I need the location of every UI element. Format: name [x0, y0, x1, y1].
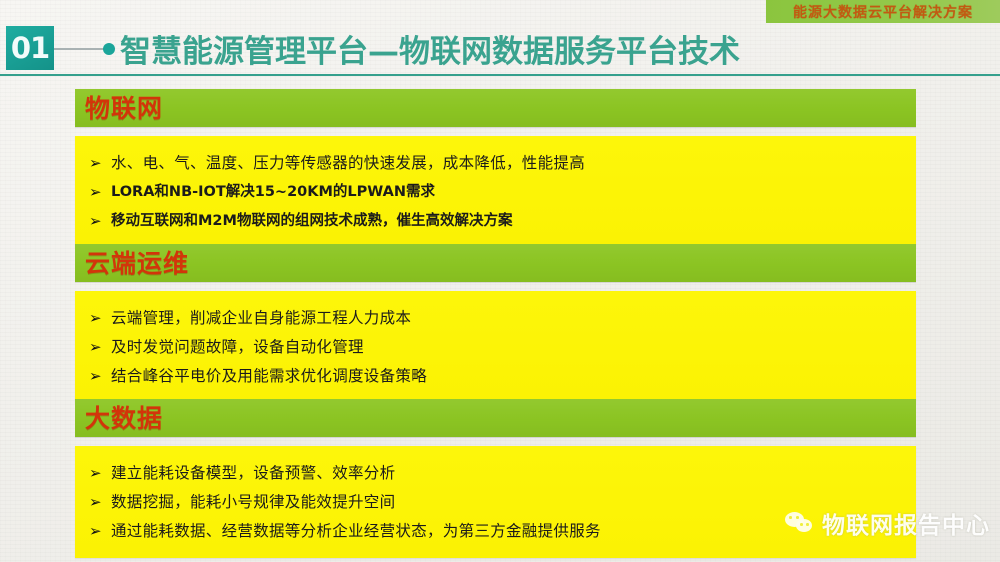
corner-badge-label: 能源大数据云平台解决方案	[793, 2, 973, 22]
list-item-text: 移动互联网和M2M物联网的组网技术成熟，催生高效解决方案	[111, 207, 512, 236]
list-item-text: 结合峰谷平电价及用能需求优化调度设备策略	[111, 362, 427, 391]
list-item-text: 建立能耗设备模型，设备预警、效率分析	[111, 459, 395, 488]
arrow-bullet-icon: ➢	[89, 304, 111, 333]
section-heading-label: 大数据	[85, 406, 163, 431]
section-body: ➢ 云端管理，削减企业自身能源工程人力成本 ➢ 及时发觉问题故障，设备自动化管理…	[75, 291, 916, 403]
list-item: ➢ 数据挖掘，能耗小号规律及能效提升空间	[75, 488, 916, 517]
section-heading-label: 物联网	[85, 96, 163, 121]
list-item-text: 云端管理，削减企业自身能源工程人力成本	[111, 304, 411, 333]
list-item: ➢ 水、电、气、温度、压力等传感器的快速发展，成本降低，性能提高	[75, 149, 916, 178]
arrow-bullet-icon: ➢	[89, 207, 111, 236]
header-connector-line	[54, 48, 106, 50]
arrow-bullet-icon: ➢	[89, 488, 111, 517]
content-section-iot: 物联网 ➢ 水、电、气、温度、压力等传感器的快速发展，成本降低，性能提高 ➢ L…	[75, 89, 916, 248]
page-title: 智慧能源管理平台—物联网数据服务平台技术	[120, 22, 740, 74]
section-heading-bar: 大数据	[75, 399, 916, 437]
arrow-bullet-icon: ➢	[89, 362, 111, 391]
header-connector-dot	[103, 43, 115, 55]
content-section-cloud-ops: 云端运维 ➢ 云端管理，削减企业自身能源工程人力成本 ➢ 及时发觉问题故障，设备…	[75, 244, 916, 403]
section-heading-label: 云端运维	[85, 251, 189, 276]
list-item: ➢ 结合峰谷平电价及用能需求优化调度设备策略	[75, 362, 916, 391]
section-body: ➢ 建立能耗设备模型，设备预警、效率分析 ➢ 数据挖掘，能耗小号规律及能效提升空…	[75, 446, 916, 558]
list-item-text: 水、电、气、温度、压力等传感器的快速发展，成本降低，性能提高	[111, 149, 585, 178]
list-item: ➢ 移动互联网和M2M物联网的组网技术成熟，催生高效解决方案	[75, 207, 916, 236]
list-item-text: 及时发觉问题故障，设备自动化管理	[111, 333, 364, 362]
list-item: ➢ 通过能耗数据、经营数据等分析企业经营状态，为第三方金融提供服务	[75, 517, 916, 546]
list-item: ➢ LORA和NB-IOT解决15~20KM的LPWAN需求	[75, 178, 916, 207]
arrow-bullet-icon: ➢	[89, 459, 111, 488]
section-heading-bar: 云端运维	[75, 244, 916, 282]
arrow-bullet-icon: ➢	[89, 517, 111, 546]
list-item-text: 通过能耗数据、经营数据等分析企业经营状态，为第三方金融提供服务	[111, 517, 601, 546]
section-number-box: 01	[6, 26, 54, 70]
header-divider	[0, 74, 1000, 76]
list-item-text: LORA和NB-IOT解决15~20KM的LPWAN需求	[111, 178, 435, 207]
section-heading-bar: 物联网	[75, 89, 916, 127]
section-body: ➢ 水、电、气、温度、压力等传感器的快速发展，成本降低，性能提高 ➢ LORA和…	[75, 136, 916, 248]
arrow-bullet-icon: ➢	[89, 333, 111, 362]
slide-header: 01 智慧能源管理平台—物联网数据服务平台技术	[0, 22, 1000, 74]
arrow-bullet-icon: ➢	[89, 178, 111, 207]
list-item: ➢ 云端管理，削减企业自身能源工程人力成本	[75, 304, 916, 333]
list-item: ➢ 及时发觉问题故障，设备自动化管理	[75, 333, 916, 362]
list-item: ➢ 建立能耗设备模型，设备预警、效率分析	[75, 459, 916, 488]
list-item-text: 数据挖掘，能耗小号规律及能效提升空间	[111, 488, 395, 517]
corner-badge: 能源大数据云平台解决方案	[766, 0, 1000, 23]
content-section-big-data: 大数据 ➢ 建立能耗设备模型，设备预警、效率分析 ➢ 数据挖掘，能耗小号规律及能…	[75, 399, 916, 558]
slide-canvas: 能源大数据云平台解决方案 01 智慧能源管理平台—物联网数据服务平台技术 物联网…	[0, 0, 1000, 562]
section-number: 01	[11, 34, 49, 63]
arrow-bullet-icon: ➢	[89, 149, 111, 178]
